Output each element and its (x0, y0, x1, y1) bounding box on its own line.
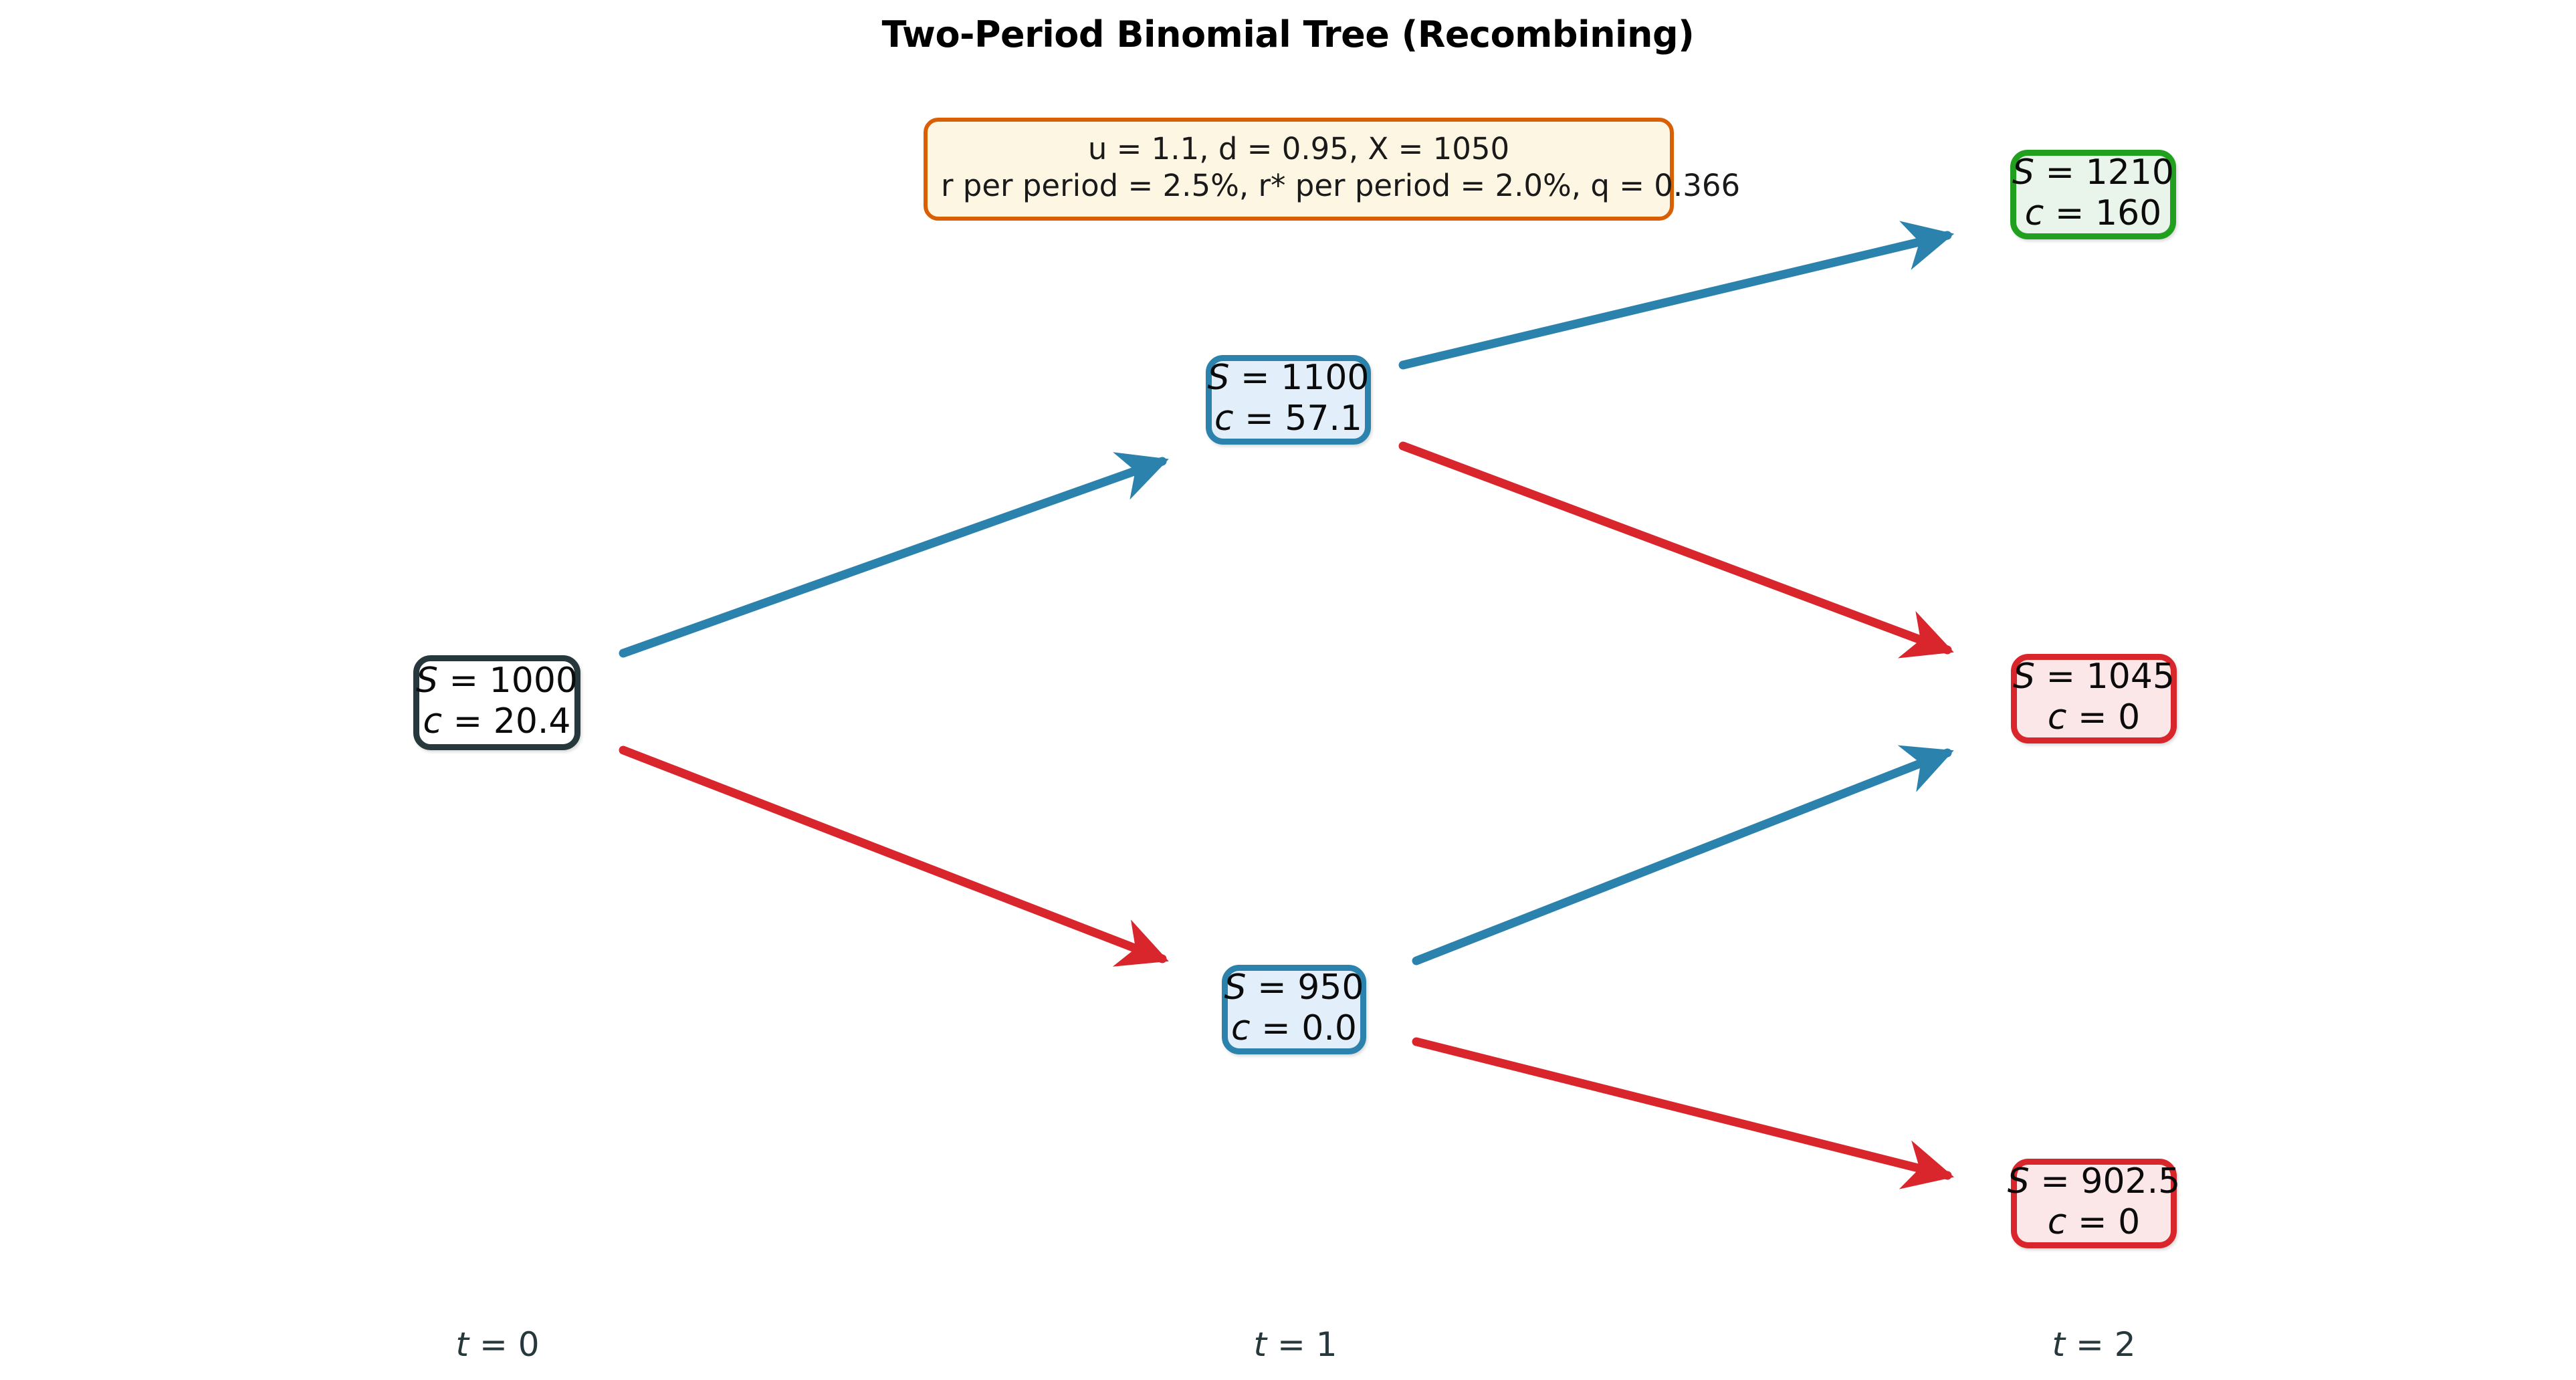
stock-symbol: S (1224, 967, 1247, 1008)
node-downdown-stock-price: S = 902.5 (2008, 1161, 2181, 1202)
call-symbol: c (1214, 398, 1234, 439)
node-down-t1[interactable]: S = 950 c = 0.0 (1222, 965, 1366, 1054)
node-updown-stock-price: S = 1045 (2013, 657, 2175, 697)
edge-up-updown (1403, 446, 1947, 650)
edge-root-up (623, 461, 1162, 653)
time-label-t0: t = 0 (455, 1325, 539, 1364)
equals-sign: = (2046, 657, 2086, 697)
stock-value: 1100 (1281, 358, 1369, 398)
call-value: 20.4 (494, 701, 571, 741)
equals-sign: = (1257, 967, 1297, 1008)
stock-value: 902.5 (2080, 1161, 2180, 1201)
call-symbol: c (2025, 193, 2044, 233)
stock-symbol: S (2008, 1161, 2030, 1201)
equals-sign: = (453, 701, 494, 741)
call-value: 57.1 (1285, 398, 1362, 439)
edge-up-upup (1403, 235, 1947, 365)
node-downdown-t2[interactable]: S = 902.5 c = 0 (2011, 1159, 2177, 1248)
edge-down-updown (1416, 753, 1947, 961)
node-downdown-call-value: c = 0 (2048, 1202, 2140, 1243)
equals-sign: = (2078, 1202, 2118, 1242)
time-label-t2: t = 2 (2052, 1325, 2135, 1364)
node-down-stock-price: S = 950 (1224, 967, 1364, 1008)
call-value: 0 (2118, 1202, 2140, 1242)
stock-value: 1210 (2086, 152, 2174, 193)
call-value: 160 (2095, 193, 2161, 233)
equals-sign: = (2078, 697, 2118, 737)
time-symbol: t (455, 1325, 469, 1364)
time-value: = 2 (2065, 1325, 2136, 1364)
stock-symbol: S (2012, 152, 2034, 193)
node-upup-stock-price: S = 1210 (2012, 152, 2174, 193)
binomial-tree-figure: Two-Period Binomial Tree (Recombining) u… (0, 0, 2576, 1380)
node-up-t1[interactable]: S = 1100 c = 57.1 (1206, 355, 1371, 445)
parameters-box: u = 1.1, d = 0.95, X = 1050 r per period… (924, 118, 1674, 221)
call-symbol: c (2048, 697, 2067, 737)
equals-sign: = (449, 661, 490, 701)
call-symbol: c (423, 701, 443, 741)
time-symbol: t (1253, 1325, 1267, 1364)
call-value: 0.0 (1301, 1008, 1357, 1048)
equals-sign: = (2040, 1161, 2080, 1201)
edge-root-down (623, 750, 1162, 959)
node-root-t0[interactable]: S = 1000 c = 20.4 (413, 655, 580, 750)
node-upup-t2[interactable]: S = 1210 c = 160 (2010, 150, 2176, 239)
time-value: = 1 (1267, 1325, 1337, 1364)
time-symbol: t (2052, 1325, 2065, 1364)
time-value: = 0 (469, 1325, 540, 1364)
equals-sign: = (2055, 193, 2095, 233)
equals-sign: = (1241, 358, 1281, 398)
call-value: 0 (2118, 697, 2140, 737)
stock-value: 1045 (2086, 657, 2175, 697)
node-root-call-value: c = 20.4 (423, 701, 571, 742)
node-root-stock-price: S = 1000 (416, 661, 578, 701)
parameters-line-2: r per period = 2.5%, r* per period = 2.0… (941, 168, 1656, 205)
equals-sign: = (1245, 398, 1285, 439)
equals-sign: = (1261, 1008, 1301, 1048)
time-label-t1: t = 1 (1253, 1325, 1337, 1364)
call-symbol: c (2048, 1202, 2067, 1242)
node-up-stock-price: S = 1100 (1208, 358, 1370, 398)
node-updown-call-value: c = 0 (2048, 697, 2140, 738)
node-down-call-value: c = 0.0 (1231, 1008, 1357, 1049)
node-upup-call-value: c = 160 (2025, 193, 2162, 234)
equals-sign: = (2046, 152, 2086, 193)
call-symbol: c (1231, 1008, 1251, 1048)
stock-symbol: S (416, 661, 438, 701)
stock-value: 1000 (490, 661, 578, 701)
parameters-line-1: u = 1.1, d = 0.95, X = 1050 (941, 131, 1656, 168)
node-updown-t2[interactable]: S = 1045 c = 0 (2011, 654, 2177, 743)
stock-value: 950 (1297, 967, 1364, 1008)
stock-symbol: S (1208, 358, 1230, 398)
page-title: Two-Period Binomial Tree (Recombining) (0, 13, 2576, 55)
stock-symbol: S (2013, 657, 2035, 697)
edge-down-downdown (1416, 1042, 1947, 1175)
node-up-call-value: c = 57.1 (1214, 398, 1362, 439)
